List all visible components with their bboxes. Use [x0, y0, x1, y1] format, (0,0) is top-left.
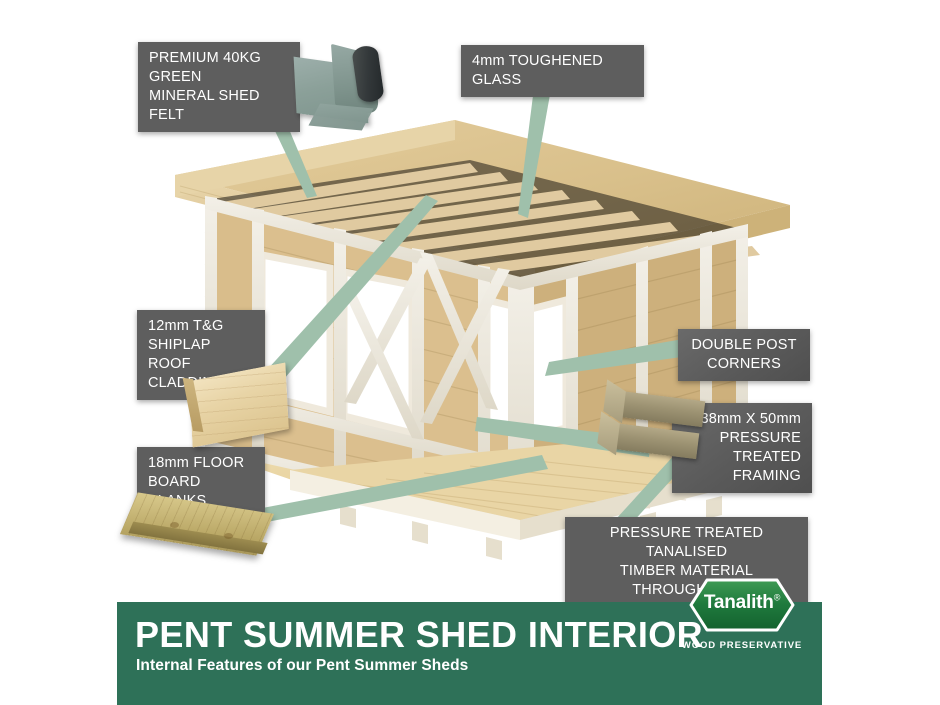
callout-felt: PREMIUM 40KG GREEN MINERAL SHED FELT — [138, 42, 300, 132]
callout-posts-line-1: DOUBLE POST — [689, 336, 799, 355]
tanalith-name-text: Tanalith — [704, 592, 774, 613]
infographic-canvas: PREMIUM 40KG GREEN MINERAL SHED FELT 4mm… — [0, 0, 940, 705]
tanalith-tagline: WOOD PRESERVATIVE — [679, 640, 805, 651]
shiplap-board-image — [190, 372, 288, 438]
callout-shiplap-line-2: SHIPLAP ROOF — [148, 336, 254, 374]
page-subtitle: Internal Features of our Pent Summer She… — [136, 657, 468, 675]
callout-shiplap-line-1: 12mm T&G — [148, 317, 254, 336]
registered-mark: ® — [774, 593, 780, 603]
callout-posts: DOUBLE POST CORNERS — [678, 329, 810, 381]
page-title: PENT SUMMER SHED INTERIOR — [135, 614, 703, 656]
callout-glass-line-1: 4mm TOUGHENED GLASS — [472, 52, 633, 90]
callout-glass: 4mm TOUGHENED GLASS — [461, 45, 644, 97]
felt-roll-image — [293, 44, 389, 128]
callout-tanalised-line-1: PRESSURE TREATED TANALISED — [576, 524, 797, 562]
callout-felt-line-2: MINERAL SHED FELT — [149, 87, 289, 125]
callout-felt-line-1: PREMIUM 40KG GREEN — [149, 49, 289, 87]
callout-floor-line-1: 18mm FLOOR — [148, 454, 254, 473]
tanalith-wordmark: Tanalith® — [679, 592, 805, 614]
timber-battens-image — [602, 388, 710, 472]
floor-plank-image — [128, 492, 268, 578]
callout-posts-line-2: CORNERS — [689, 355, 799, 374]
tanalith-logo: Tanalith® WOOD PRESERVATIVE — [679, 578, 805, 664]
